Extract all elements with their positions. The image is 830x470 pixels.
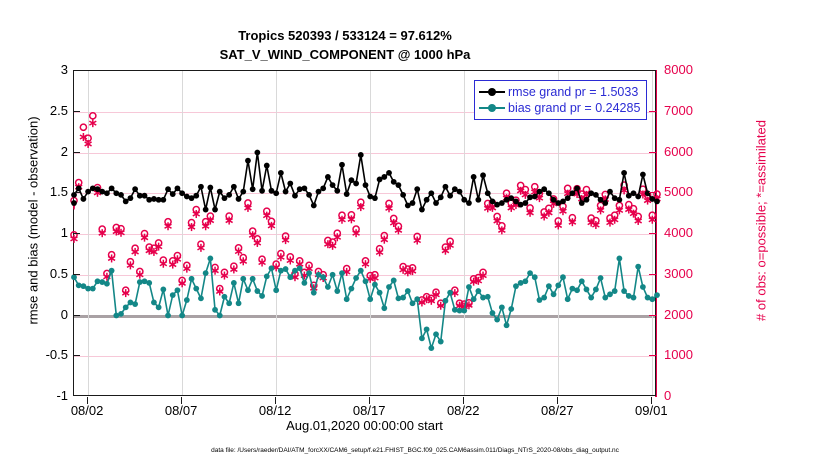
footer-datafile: data file: /Users/raeder/DAI/ATM_forcXX/… [0,447,830,454]
y-tick-mark-left [73,152,80,153]
x-tick-mark [557,397,558,404]
y-tick-mark-left [73,111,80,112]
y-tick-label-right: 6000 [664,144,693,159]
legend-label-bias: bias grand pr = 0.24285 [508,101,640,115]
legend-item-bias[interactable]: bias grand pr = 0.24285 [479,100,640,116]
legend-marker-bias [479,102,505,114]
y-tick-label-right: 3000 [664,266,693,281]
y-axis-right: 800070006000500040003000200010000 [660,70,720,396]
y-tick-label-right: 2000 [664,307,693,322]
x-tick-mark [275,397,276,404]
y-tick-mark-left [73,233,80,234]
y-tick-label-right: 8000 [664,62,693,77]
y-tick-mark-left [73,355,80,356]
x-tick-mark [369,397,370,404]
y-tick-mark-left [73,192,80,193]
bias-series [71,256,660,351]
rmse-series [71,150,660,213]
x-tick-label: 08/07 [165,403,198,418]
y-tick-mark-right [649,233,656,234]
y-tick-mark-right [649,274,656,275]
y-tick-label-right: 4000 [664,225,693,240]
x-axis-label: Aug.01,2020 00:00:00 start [73,418,656,433]
x-tick-label: 09/01 [635,403,668,418]
y-axis-left-label: rmse and bias (model - observation) [26,56,41,386]
y-tick-mark-left [73,315,80,316]
y-tick-mark-right [649,192,656,193]
y-tick-label-right: 7000 [664,103,693,118]
x-tick-mark [651,397,652,404]
x-tick-mark [87,397,88,404]
y-tick-mark-left [73,274,80,275]
y-tick-label-left: -1 [32,388,68,403]
y-axis-right-label: # of obs: o=possible; *=assimilated [754,56,769,386]
x-tick-label: 08/27 [541,403,574,418]
y-tick-label-right: 0 [664,388,671,403]
y-tick-mark-right [649,355,656,356]
x-tick-label: 08/02 [71,403,104,418]
legend-marker-rmse [479,86,505,98]
x-tick-label: 08/12 [259,403,292,418]
chart-title-line2: SAT_V_WIND_COMPONENT @ 1000 hPa [0,45,690,64]
obs-possible-markers [71,113,660,307]
chart-title: Tropics 520393 / 533124 = 97.612% SAT_V_… [0,26,690,64]
x-tick-mark [463,397,464,404]
y-tick-label-right: 5000 [664,184,693,199]
chart-title-line1: Tropics 520393 / 533124 = 97.612% [0,26,690,45]
legend-item-rmse[interactable]: rmse grand pr = 1.5033 [479,84,640,100]
y-tick-label-right: 1000 [664,347,693,362]
x-tick-label: 08/22 [447,403,480,418]
x-tick-label: 08/17 [353,403,386,418]
legend: rmse grand pr = 1.5033 bias grand pr = 0… [474,80,647,120]
x-tick-mark [181,397,182,404]
y-tick-mark-right [649,152,656,153]
legend-label-rmse: rmse grand pr = 1.5033 [508,85,638,99]
y-tick-mark-right [649,315,656,316]
figure-root: Tropics 520393 / 533124 = 97.612% SAT_V_… [0,0,830,470]
y-tick-mark-right [649,111,656,112]
